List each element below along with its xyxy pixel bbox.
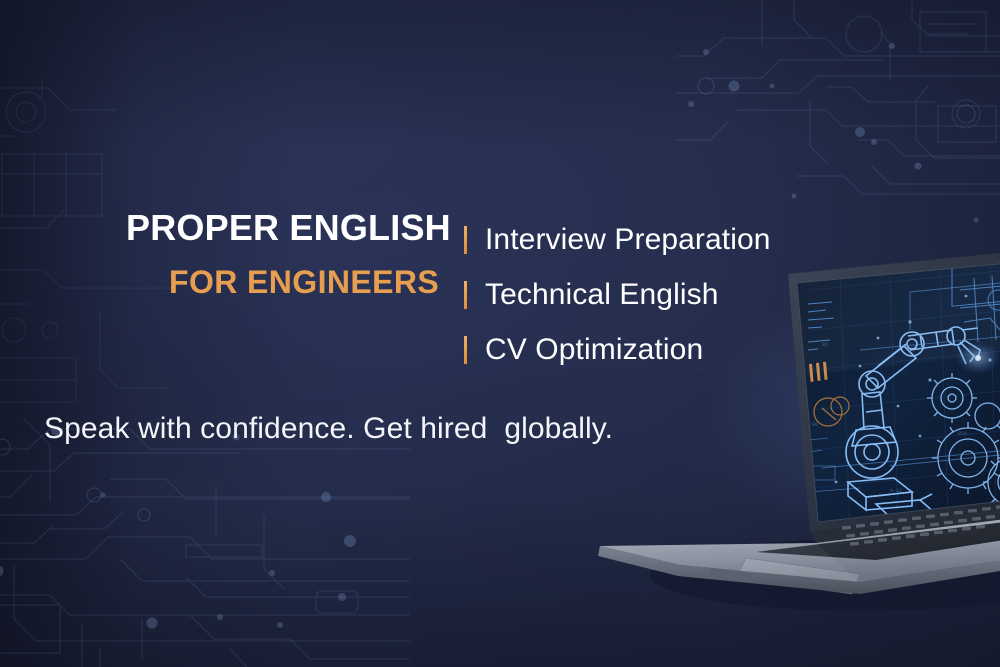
service-item-interview-preparation: Interview Preparation — [464, 212, 771, 267]
headline-sub: FOR ENGINEERS — [169, 266, 439, 298]
vertical-bar-icon — [464, 226, 467, 254]
tagline: Speak with confidence. Get hired globall… — [44, 412, 613, 446]
service-item-technical-english: Technical English — [464, 267, 771, 322]
headline-main-row: PROPER ENGLISH — [126, 210, 451, 246]
service-label-technical-english: Technical English — [485, 278, 719, 312]
service-item-cv-optimization: CV Optimization — [464, 322, 771, 377]
service-label-cv-optimization: CV Optimization — [485, 333, 703, 367]
headline-block: PROPER ENGLISH FOR ENGINEERS — [126, 210, 451, 298]
vertical-bar-icon — [464, 336, 467, 364]
headline-sub-row: FOR ENGINEERS — [126, 266, 451, 298]
service-label-interview-preparation: Interview Preparation — [485, 223, 771, 257]
services-list: Interview Preparation Technical English … — [464, 212, 771, 377]
headline-main: PROPER ENGLISH — [126, 210, 451, 246]
promo-banner: R6 A-12 Ø24 3.5 02 — [0, 0, 1000, 667]
vertical-bar-icon — [464, 281, 467, 309]
